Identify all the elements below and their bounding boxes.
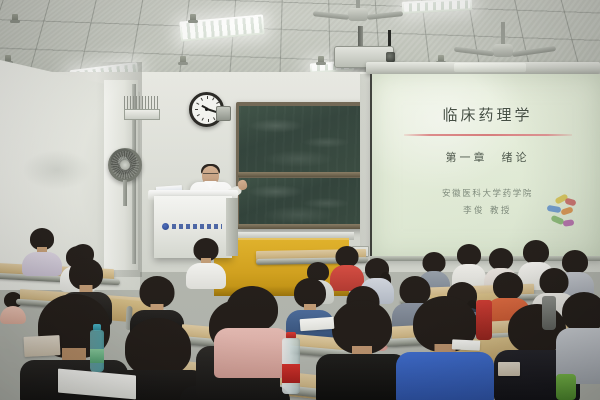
glasses-icon (203, 173, 218, 178)
student (556, 292, 600, 382)
fire-sprinkler-icon (318, 56, 324, 65)
green-cup (556, 374, 576, 400)
slide-title: 临床药理学 (372, 104, 600, 125)
chalkboard-divider (238, 172, 372, 177)
water-bottle (282, 332, 300, 394)
slide-subtitle: 第一章 绪论 (372, 149, 600, 165)
desk-box (498, 362, 520, 376)
chalk-tray (238, 224, 372, 229)
university-seal-icon (162, 223, 169, 230)
projection-screen: 临床药理学 第一章 绪论 安徽医科大学药学院 李俊 教授 (370, 74, 600, 260)
chalkboard (236, 102, 374, 228)
chalkboard-lower-panel (239, 178, 371, 224)
projector-lens-icon (386, 52, 395, 62)
notebook-page (452, 339, 480, 350)
student (186, 238, 226, 286)
red-thermos (542, 296, 556, 330)
projection-screen-housing (366, 62, 600, 74)
wall-mounted-fan (108, 148, 142, 182)
notebook-page (300, 317, 335, 331)
wall-vent-device (124, 96, 158, 118)
bottle-label (282, 364, 300, 383)
podium-banner (162, 222, 222, 231)
fire-sprinkler-icon (12, 14, 18, 23)
capsules-graphic-icon (541, 194, 583, 234)
red-thermos (476, 300, 492, 340)
wall-smudge (22, 150, 92, 190)
student (22, 228, 62, 274)
fire-sprinkler-icon (190, 14, 196, 23)
water-bottle (90, 324, 104, 372)
student (214, 286, 290, 376)
slide-divider-rule (404, 134, 572, 136)
student (316, 300, 408, 400)
desk-box (24, 335, 61, 357)
chalkboard-upper-panel (239, 106, 371, 172)
fire-sprinkler-icon (180, 56, 186, 65)
student (330, 246, 364, 290)
lecturer-right-hand (237, 179, 248, 191)
wall-speaker-box (216, 106, 231, 121)
lecture-hall-photo: 临床药理学 第一章 绪论 安徽医科大学药学院 李俊 教授 (0, 0, 600, 400)
podium-side (226, 198, 238, 256)
podium-banner-text (172, 224, 222, 229)
